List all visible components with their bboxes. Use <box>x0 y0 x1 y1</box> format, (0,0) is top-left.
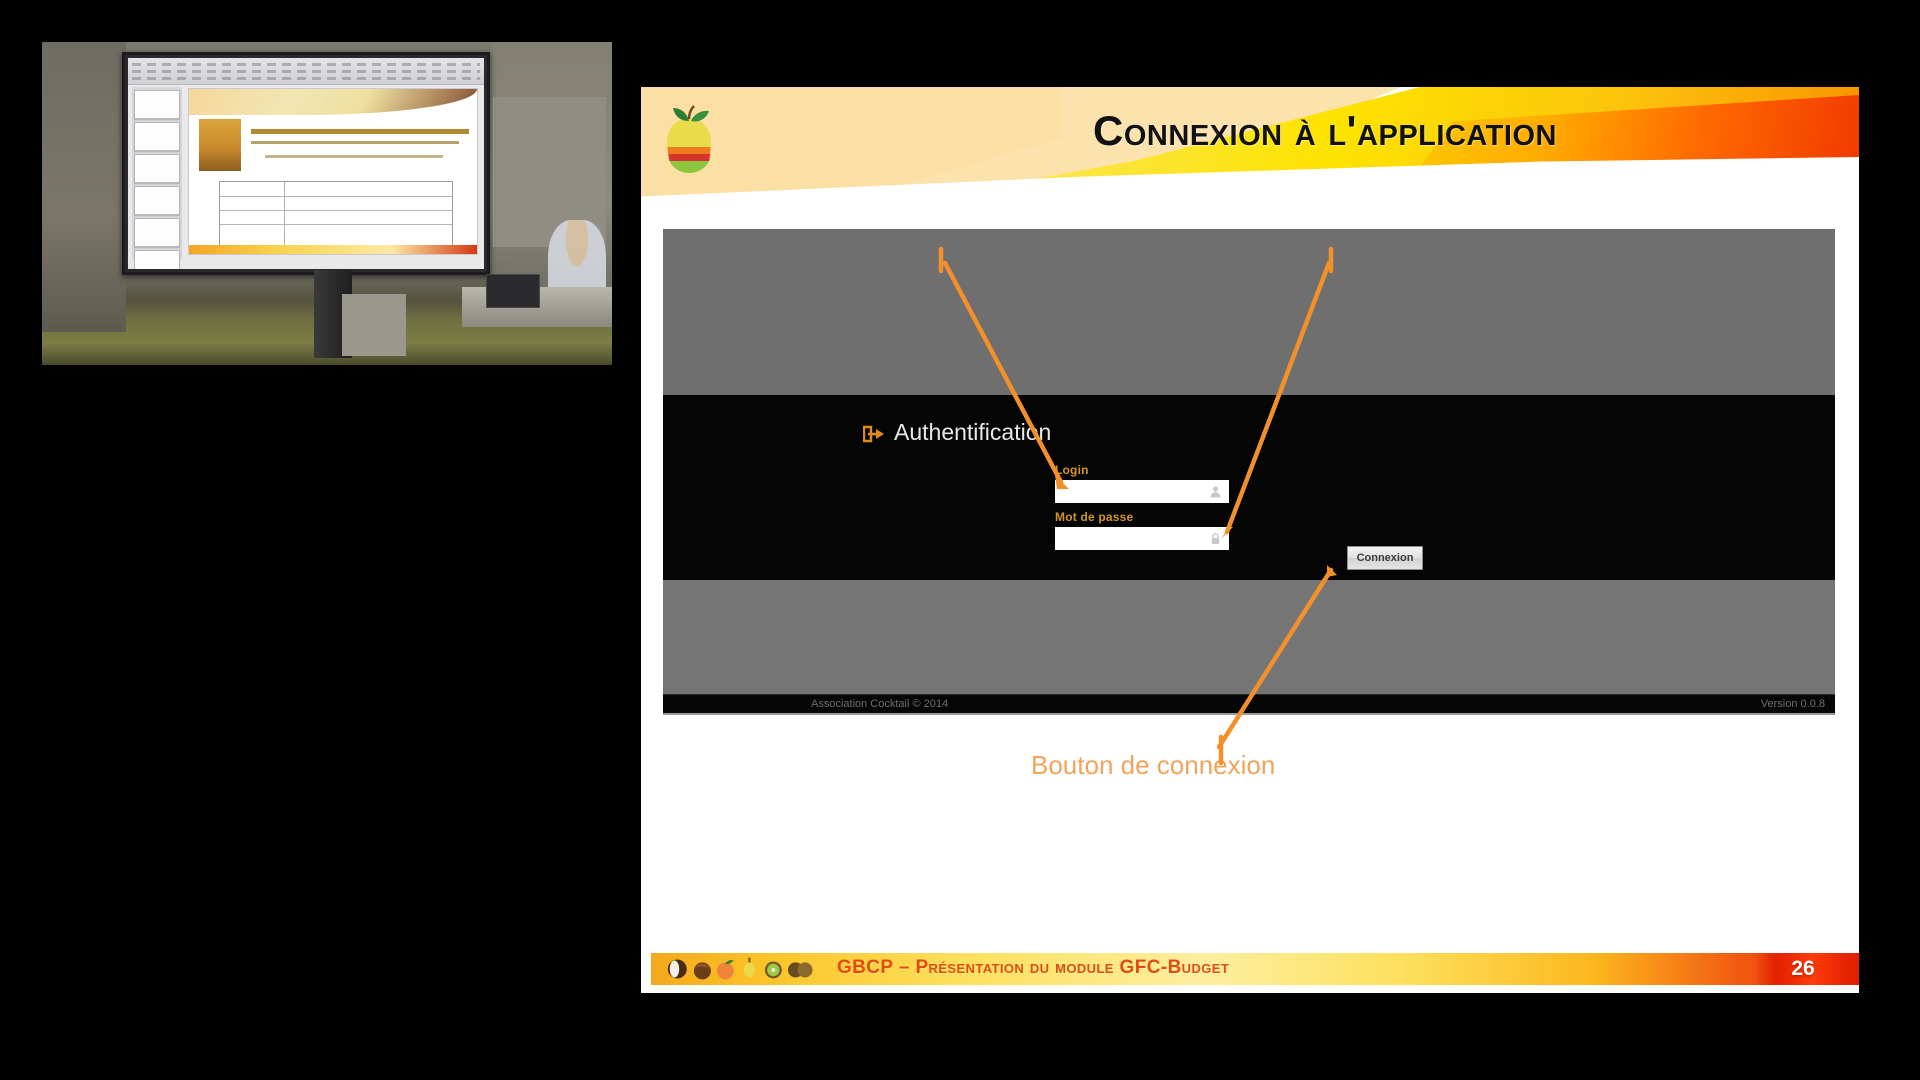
wall-left <box>42 42 126 332</box>
password-input[interactable] <box>1055 527 1229 550</box>
slide-page-number: 26 <box>1755 953 1851 985</box>
annotation-label-button: Bouton de connexion <box>1031 750 1275 781</box>
pear-icon <box>739 956 760 982</box>
page-title: Connexion à l'application <box>641 107 1859 155</box>
peach-icon <box>714 957 737 981</box>
authentification-heading-label: Authentification <box>894 419 1051 446</box>
app-bottom-area <box>663 580 1835 695</box>
app-version: Version 0.0.8 <box>1761 698 1825 710</box>
coconut-icon <box>665 956 690 982</box>
slide-canvas: Connexion à l'application Saisie du logi… <box>641 87 1859 993</box>
laptop <box>486 274 540 308</box>
walnut-icon <box>787 957 813 981</box>
authentification-heading: Authentification <box>863 419 1051 446</box>
password-field-label: Mot de passe <box>1055 510 1229 524</box>
slide-footer-bar: GBCP – Présentation du module GFC-Budget… <box>651 953 1859 985</box>
app-footer-bar: Association Cocktail © 2014 Version 0.0.… <box>663 694 1835 713</box>
login-field-group: Login <box>1055 463 1229 503</box>
login-field-label: Login <box>1055 463 1229 477</box>
footer-fruit-icon-strip <box>665 955 813 983</box>
login-arrow-icon <box>863 423 885 443</box>
slide-header: Connexion à l'application <box>641 87 1859 229</box>
equipment-box <box>342 294 406 356</box>
projected-desktop <box>128 58 484 269</box>
kiwi-icon <box>762 957 785 981</box>
presentation-recording-frame: Connexion à l'application Saisie du logi… <box>0 0 1920 1080</box>
user-person-icon <box>1209 485 1222 498</box>
webcam-thumbnail[interactable] <box>42 42 612 365</box>
app-login-panel <box>663 395 1835 580</box>
application-screenshot: Authentification Login Mot de passe <box>663 229 1835 715</box>
slide-footer: GBCP – Présentation du module GFC-Budget… <box>641 953 1859 985</box>
projection-screen <box>122 52 490 275</box>
powerpoint-ribbon <box>128 58 484 85</box>
connexion-submit-button[interactable]: Connexion <box>1347 546 1423 570</box>
password-field-group: Mot de passe <box>1055 510 1229 550</box>
projected-slide <box>188 88 478 255</box>
slide-thumbnail-pane <box>132 87 182 259</box>
lock-icon <box>1209 532 1222 545</box>
app-copyright: Association Cocktail © 2014 <box>811 698 948 710</box>
login-input[interactable] <box>1055 480 1229 503</box>
slide-footer-text: GBCP – Présentation du module GFC-Budget <box>837 957 1229 979</box>
app-top-area <box>663 229 1835 395</box>
hazelnut-icon <box>692 957 713 981</box>
